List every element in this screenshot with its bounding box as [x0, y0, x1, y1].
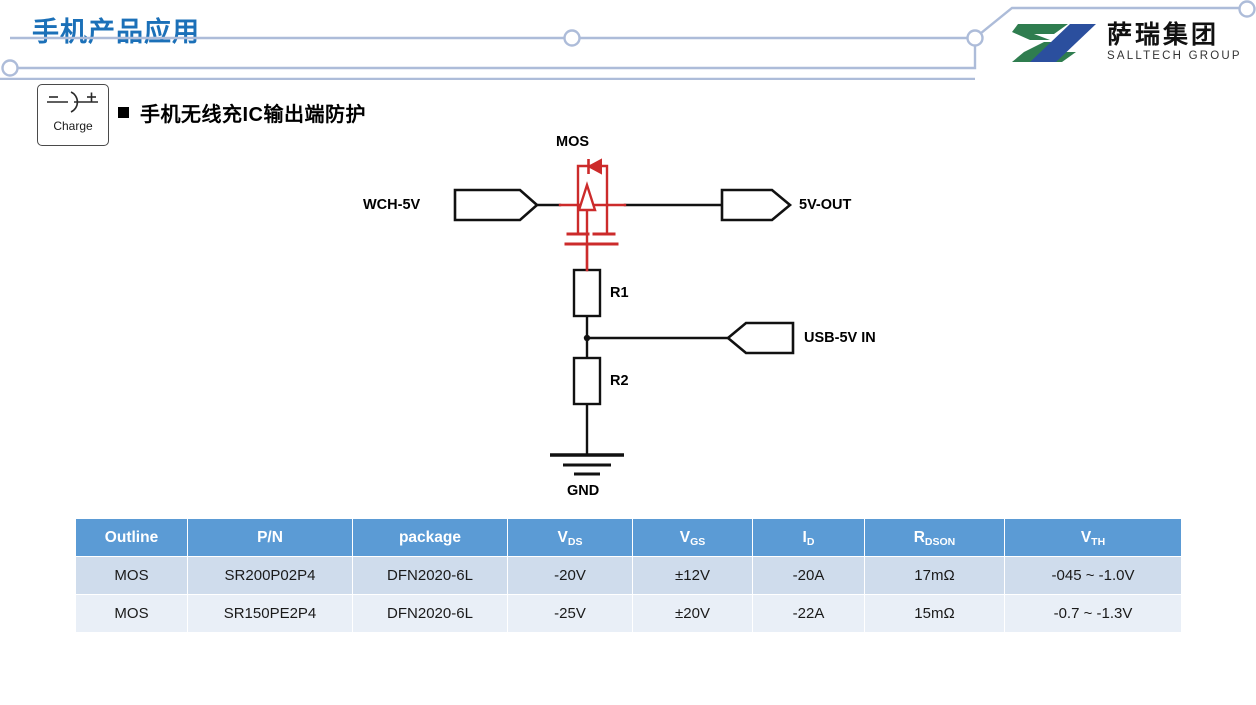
ground-symbol-icon	[550, 455, 624, 474]
cell-pn: SR200P02P4	[188, 557, 353, 595]
logo-mark-icon	[1010, 22, 1098, 64]
cell-vgs: ±12V	[633, 557, 753, 595]
usb-5v-in-label: USB-5V IN	[804, 330, 876, 346]
cell-package: DFN2020-6L	[353, 557, 508, 595]
cell-vth: -0.7 ~ -1.3V	[1005, 595, 1182, 633]
col-outline: Outline	[76, 519, 188, 557]
cell-vgs: ±20V	[633, 595, 753, 633]
table-row: MOS SR200P02P4 DFN2020-6L -20V ±12V -20A…	[76, 557, 1182, 595]
resistor-r1-shape	[574, 270, 600, 316]
section-subtitle: 手机无线充IC输出端防护	[118, 98, 366, 127]
col-vgs: VGS	[633, 519, 753, 557]
circuit-svg	[0, 130, 1256, 510]
wch-5v-label: WCH-5V	[363, 197, 420, 213]
table-row: MOS SR150PE2P4 DFN2020-6L -25V ±20V -22A…	[76, 595, 1182, 633]
body-diode-icon	[589, 160, 601, 173]
r1-label: R1	[610, 285, 629, 301]
col-rdson: RDSON	[865, 519, 1005, 557]
cell-pn: SR150PE2P4	[188, 595, 353, 633]
col-pn: P/N	[188, 519, 353, 557]
resistor-r2-shape	[574, 358, 600, 404]
cell-outline: MOS	[76, 595, 188, 633]
subtitle-bullet-icon	[118, 107, 129, 118]
gnd-label: GND	[567, 483, 599, 499]
page-title: 手机产品应用	[32, 10, 200, 49]
5v-out-label: 5V-OUT	[799, 197, 851, 213]
wch-5v-port-shape	[455, 190, 537, 220]
5v-out-port-shape	[722, 190, 790, 220]
usb-5v-in-port-shape	[728, 323, 793, 353]
cell-id: -20A	[753, 557, 865, 595]
cell-rdson: 15mΩ	[865, 595, 1005, 633]
logo-chinese-name: 萨瑞集团	[1107, 23, 1242, 48]
circuit-diagram: MOS WCH-5V 5V-OUT USB-5V IN R1 R2 GND	[0, 130, 1256, 510]
col-package: package	[353, 519, 508, 557]
cell-outline: MOS	[76, 557, 188, 595]
cell-id: -22A	[753, 595, 865, 633]
net-junction-dot	[584, 335, 590, 341]
col-id: ID	[753, 519, 865, 557]
cell-vth: -045 ~ -1.0V	[1005, 557, 1182, 595]
col-vds: VDS	[508, 519, 633, 557]
mosfet-symbol-icon	[560, 166, 625, 270]
battery-charge-symbol-icon	[38, 89, 108, 119]
col-vth: VTH	[1005, 519, 1182, 557]
mos-label: MOS	[556, 134, 589, 150]
subtitle-label: 手机无线充IC输出端防护	[140, 98, 366, 127]
cell-vds: -25V	[508, 595, 633, 633]
table-header-row: Outline P/N package VDS VGS ID RDSON VTH	[76, 519, 1182, 557]
mosfet-bulk-arrow-icon	[579, 185, 595, 210]
specification-table: Outline P/N package VDS VGS ID RDSON VTH…	[75, 518, 1182, 633]
cell-package: DFN2020-6L	[353, 595, 508, 633]
cell-vds: -20V	[508, 557, 633, 595]
logo-english-name: SALLTECH GROUP	[1107, 51, 1242, 63]
company-logo: 萨瑞集团 SALLTECH GROUP	[1010, 22, 1242, 64]
cell-rdson: 17mΩ	[865, 557, 1005, 595]
r2-label: R2	[610, 373, 629, 389]
